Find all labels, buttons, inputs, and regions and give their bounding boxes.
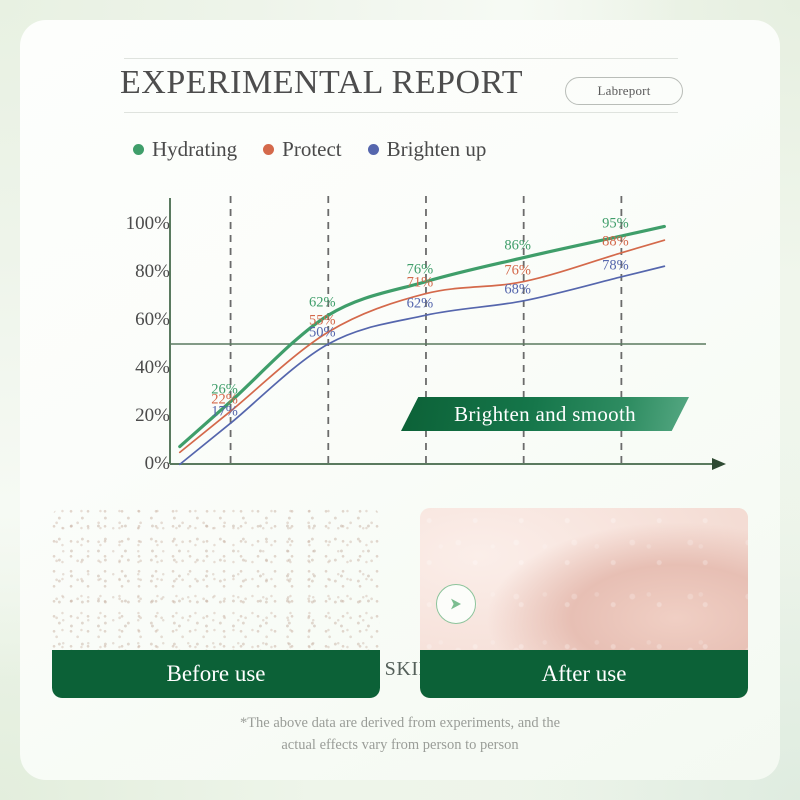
legend-dot-icon bbox=[263, 144, 274, 155]
before-after-comparison: Before use After use bbox=[52, 508, 748, 698]
after-caption: After use bbox=[420, 650, 748, 698]
before-photo: Before use bbox=[52, 508, 380, 698]
legend-label: Protect bbox=[282, 137, 341, 162]
legend-item-protect: Protect bbox=[263, 137, 341, 162]
header-divider-top bbox=[124, 58, 678, 59]
chevron-right-icon bbox=[436, 584, 476, 624]
legend-label: Hydrating bbox=[152, 137, 237, 162]
report-card: EXPERIMENTAL REPORT Labreport Hydrating … bbox=[20, 20, 780, 780]
legend-item-hydrating: Hydrating bbox=[133, 137, 237, 162]
y-axis-tick-label: 60% bbox=[102, 309, 170, 331]
y-axis-tick-label: 0% bbox=[102, 453, 170, 475]
legend-label: Brighten up bbox=[387, 137, 487, 162]
chart-plot-area bbox=[98, 192, 738, 512]
data-point-label: 95% bbox=[602, 216, 629, 233]
page-title: EXPERIMENTAL REPORT bbox=[120, 64, 523, 102]
line-chart: 0%20%40%60%80%100% 26%62%76%86%95%22%55%… bbox=[98, 192, 738, 512]
y-axis-tick-label: 80% bbox=[102, 261, 170, 283]
before-caption: Before use bbox=[52, 650, 380, 698]
y-axis-tick-label: 20% bbox=[102, 405, 170, 427]
data-point-label: 88% bbox=[602, 233, 629, 250]
highlight-banner: Brighten and smooth bbox=[401, 397, 689, 431]
data-point-label: 71% bbox=[407, 274, 434, 291]
footnote-line-1: *The above data are derived from experim… bbox=[20, 712, 780, 734]
y-axis-tick-label: 40% bbox=[102, 357, 170, 379]
data-point-label: 50% bbox=[309, 325, 336, 342]
data-point-label: 76% bbox=[504, 262, 531, 279]
footnote-line-2: actual effects vary from person to perso… bbox=[20, 734, 780, 756]
data-point-label: 17% bbox=[211, 404, 238, 421]
legend-dot-icon bbox=[133, 144, 144, 155]
legend-item-brighten-up: Brighten up bbox=[368, 137, 487, 162]
data-point-label: 62% bbox=[407, 296, 434, 313]
chart-legend: Hydrating Protect Brighten up bbox=[133, 137, 486, 162]
labreport-badge: Labreport bbox=[565, 77, 683, 105]
legend-dot-icon bbox=[368, 144, 379, 155]
data-point-label: 62% bbox=[309, 295, 336, 312]
y-axis-tick-label: 100% bbox=[102, 213, 170, 235]
data-point-label: 78% bbox=[602, 257, 629, 274]
header-divider-bottom bbox=[124, 112, 678, 113]
data-point-label: 86% bbox=[504, 237, 531, 254]
data-point-label: 68% bbox=[504, 281, 531, 298]
footnote: *The above data are derived from experim… bbox=[20, 712, 780, 757]
